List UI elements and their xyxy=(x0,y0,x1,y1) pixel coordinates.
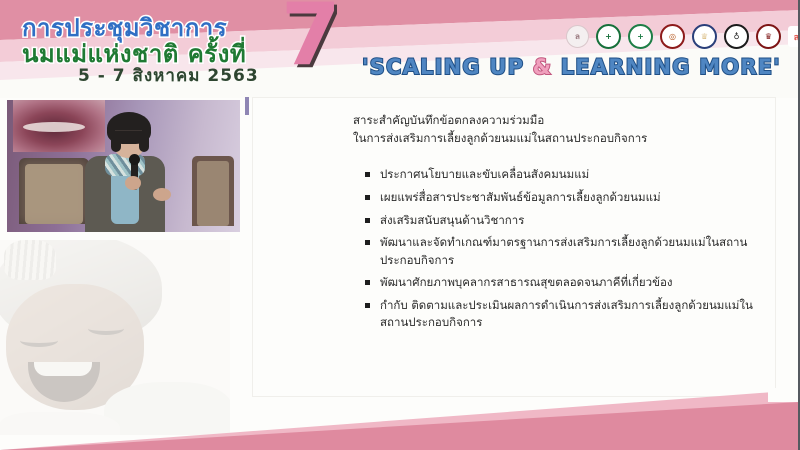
tagline-part-1: 'SCALING UP xyxy=(362,55,533,79)
list-item: กำกับ ติดตามและประเมินผลการดำเนินการส่งเ… xyxy=(365,297,757,332)
slide-banner: การประชุมวิชาการ นมแม่แห่งชาติ ครั้งที่ … xyxy=(0,0,800,98)
logo-royal-emblem-orange-icon: ◎ xyxy=(660,24,685,49)
baby-shoulder-right xyxy=(104,382,230,435)
content-edge-marker xyxy=(245,97,249,115)
logo-department-health-green-icon: + xyxy=(628,24,653,49)
video-chair-left xyxy=(19,158,89,224)
content-heading: สาระสำคัญบันทึกข้อตกลงความร่วมมือ ในการส… xyxy=(353,112,753,148)
conference-speaker-video xyxy=(7,100,240,232)
logo-ministry-public-health-green-icon: + xyxy=(596,24,621,49)
baby-eye-left xyxy=(20,334,58,347)
speaker-other-hand xyxy=(153,188,171,201)
conference-tagline: 'SCALING UP & LEARNING MORE' xyxy=(362,55,781,79)
speaker-hair xyxy=(107,112,151,144)
video-backdrop-artwork xyxy=(13,100,105,152)
content-bullet-list: ประกาศนโยบายและขับเคลื่อนสังคมนมแม่ เผยแ… xyxy=(365,166,757,337)
tagline-ampersand: & xyxy=(533,55,553,79)
video-chair-right xyxy=(192,156,234,226)
list-item: พัฒนาศักยภาพบุคลากรสาธารณสุขตลอดจนภาคีที… xyxy=(365,274,757,291)
list-item: พัฒนาและจัดทำเกณฑ์มาตรฐานการส่งเสริมการเ… xyxy=(365,234,757,269)
edition-number-seven: 7 xyxy=(281,0,341,78)
sponsor-logo-strip: ล + + ◎ ♕ ♁ ♛ สสส xyxy=(566,24,800,49)
baby-teeth xyxy=(34,362,92,376)
slide-content-card: สาระสำคัญบันทึกข้อตกลงความร่วมมือ ในการส… xyxy=(252,97,776,397)
baby-eye-right xyxy=(88,322,124,335)
logo-red-garuda-emblem-icon: ♛ xyxy=(756,24,781,49)
list-item: ส่งเสริมสนับสนุนด้านวิชาการ xyxy=(365,212,757,229)
tagline-part-2: LEARNING MORE' xyxy=(552,55,781,79)
logo-black-circle-emblem-icon: ♁ xyxy=(724,24,749,49)
logo-sss-thaihealth-icon: สสส xyxy=(788,26,800,47)
speaker-glasses xyxy=(115,130,142,138)
presentation-slide: การประชุมวิชาการ นมแม่แห่งชาติ ครั้งที่ … xyxy=(0,0,800,450)
list-item: ประกาศนโยบายและขับเคลื่อนสังคมนมแม่ xyxy=(365,166,757,183)
logo-thai-breastfeeding-foundation-icon: ล xyxy=(566,25,589,48)
smiling-baby-background-photo xyxy=(0,240,230,435)
footer-corner-notch xyxy=(768,388,798,402)
content-heading-line-2: ในการส่งเสริมการเลี้ยงลูกด้วยนมแม่ในสถาน… xyxy=(353,130,753,148)
conference-date: 5 - 7 สิงหาคม 2563 xyxy=(78,62,259,89)
content-heading-line-1: สาระสำคัญบันทึกข้อตกลงความร่วมมือ xyxy=(353,112,753,130)
baby-shoulder-left xyxy=(0,412,120,435)
list-item: เผยแพร่สื่อสารประชาสัมพันธ์ข้อมูลการเลี้… xyxy=(365,189,757,206)
logo-royal-crown-blue-icon: ♕ xyxy=(692,24,717,49)
speaker-hand-holding-mic xyxy=(125,176,141,190)
